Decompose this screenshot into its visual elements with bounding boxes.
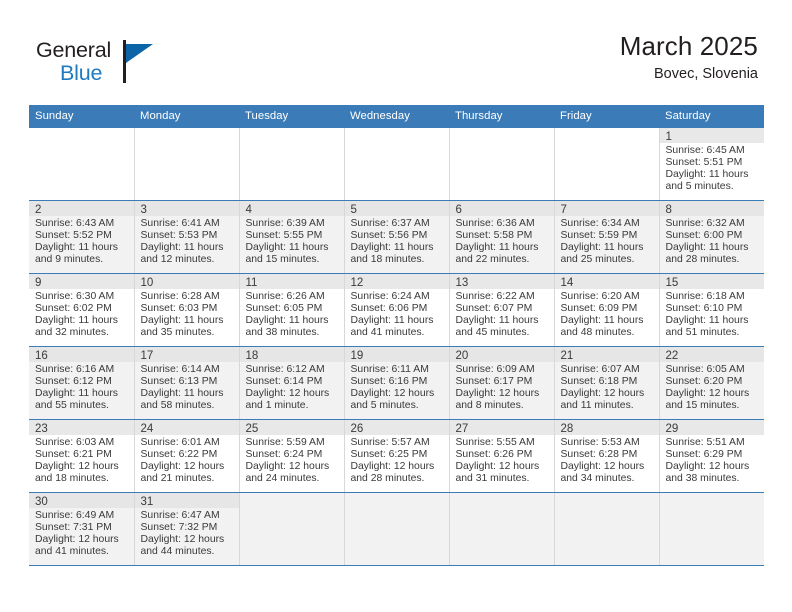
weekday-header-thursday: Thursday xyxy=(449,105,554,128)
daylight-duration-line1: Daylight: 12 hours xyxy=(561,461,655,473)
sunrise-time: Sunrise: 6:34 AM xyxy=(561,218,655,230)
day-sun-details: Sunrise: 6:12 AMSunset: 6:14 PMDaylight:… xyxy=(240,362,344,412)
sunset-time: Sunset: 7:32 PM xyxy=(141,522,235,534)
day-number: 7 xyxy=(555,201,659,216)
sunrise-time: Sunrise: 6:22 AM xyxy=(456,291,550,303)
weekday-header-tuesday: Tuesday xyxy=(239,105,344,128)
day-sun-details: Sunrise: 6:47 AMSunset: 7:32 PMDaylight:… xyxy=(135,508,239,558)
day-sun-details: Sunrise: 6:28 AMSunset: 6:03 PMDaylight:… xyxy=(135,289,239,339)
daylight-duration-line1: Daylight: 12 hours xyxy=(666,461,761,473)
sunrise-time: Sunrise: 6:28 AM xyxy=(141,291,235,303)
daylight-duration-line1: Daylight: 12 hours xyxy=(351,388,445,400)
daylight-duration-line2: and 11 minutes. xyxy=(561,400,655,412)
daylight-duration-line2: and 41 minutes. xyxy=(351,327,445,339)
calendar-day-cell[interactable]: 2Sunrise: 6:43 AMSunset: 5:52 PMDaylight… xyxy=(29,201,134,274)
day-cell-content xyxy=(345,128,449,200)
daylight-duration-line2: and 44 minutes. xyxy=(141,546,235,558)
daylight-duration-line1: Daylight: 12 hours xyxy=(456,388,550,400)
daylight-duration-line1: Daylight: 11 hours xyxy=(35,388,130,400)
day-cell-content: 18Sunrise: 6:12 AMSunset: 6:14 PMDayligh… xyxy=(240,347,344,419)
calendar-day-cell[interactable]: 4Sunrise: 6:39 AMSunset: 5:55 PMDaylight… xyxy=(239,201,344,274)
day-number: 12 xyxy=(345,274,449,289)
day-sun-details: Sunrise: 6:05 AMSunset: 6:20 PMDaylight:… xyxy=(660,362,765,412)
sunrise-time: Sunrise: 6:11 AM xyxy=(351,364,445,376)
daylight-duration-line1: Daylight: 12 hours xyxy=(246,461,340,473)
calendar-empty-cell xyxy=(134,128,239,201)
day-number xyxy=(450,493,554,508)
day-number: 31 xyxy=(135,493,239,508)
daylight-duration-line1: Daylight: 12 hours xyxy=(561,388,655,400)
day-number: 30 xyxy=(29,493,134,508)
day-number xyxy=(555,128,659,143)
sunset-time: Sunset: 5:53 PM xyxy=(141,230,235,242)
daylight-duration-line2: and 15 minutes. xyxy=(246,254,340,266)
day-cell-content: 2Sunrise: 6:43 AMSunset: 5:52 PMDaylight… xyxy=(29,201,134,273)
weekday-header-sunday: Sunday xyxy=(29,105,134,128)
day-cell-content: 20Sunrise: 6:09 AMSunset: 6:17 PMDayligh… xyxy=(450,347,554,419)
sunset-time: Sunset: 6:02 PM xyxy=(35,303,130,315)
sunrise-time: Sunrise: 6:45 AM xyxy=(666,145,761,157)
logo-text-general: General xyxy=(36,38,111,63)
sunset-time: Sunset: 6:26 PM xyxy=(456,449,550,461)
sunset-time: Sunset: 5:52 PM xyxy=(35,230,130,242)
daylight-duration-line2: and 35 minutes. xyxy=(141,327,235,339)
day-number: 2 xyxy=(29,201,134,216)
daylight-duration-line2: and 32 minutes. xyxy=(35,327,130,339)
sunset-time: Sunset: 6:10 PM xyxy=(666,303,761,315)
daylight-duration-line1: Daylight: 12 hours xyxy=(141,461,235,473)
day-number: 8 xyxy=(660,201,765,216)
day-number: 29 xyxy=(660,420,765,435)
day-sun-details: Sunrise: 6:39 AMSunset: 5:55 PMDaylight:… xyxy=(240,216,344,266)
sunrise-time: Sunrise: 6:32 AM xyxy=(666,218,761,230)
sunrise-time: Sunrise: 5:55 AM xyxy=(456,437,550,449)
day-sun-details: Sunrise: 6:01 AMSunset: 6:22 PMDaylight:… xyxy=(135,435,239,485)
day-sun-details: Sunrise: 5:51 AMSunset: 6:29 PMDaylight:… xyxy=(660,435,765,485)
calendar-day-cell[interactable]: 23Sunrise: 6:03 AMSunset: 6:21 PMDayligh… xyxy=(29,420,134,493)
sunset-time: Sunset: 6:06 PM xyxy=(351,303,445,315)
calendar-day-cell[interactable]: 30Sunrise: 6:49 AMSunset: 7:31 PMDayligh… xyxy=(29,493,134,566)
calendar-day-cell[interactable]: 31Sunrise: 6:47 AMSunset: 7:32 PMDayligh… xyxy=(134,493,239,566)
sunrise-time: Sunrise: 6:36 AM xyxy=(456,218,550,230)
daylight-duration-line2: and 24 minutes. xyxy=(246,473,340,485)
sunset-time: Sunset: 6:13 PM xyxy=(141,376,235,388)
daylight-duration-line2: and 45 minutes. xyxy=(456,327,550,339)
sunrise-time: Sunrise: 6:20 AM xyxy=(561,291,655,303)
calendar-week-row: 1Sunrise: 6:45 AMSunset: 5:51 PMDaylight… xyxy=(29,128,764,201)
daylight-duration-line1: Daylight: 11 hours xyxy=(456,315,550,327)
sunrise-time: Sunrise: 6:14 AM xyxy=(141,364,235,376)
day-number xyxy=(450,128,554,143)
calendar-body: 1Sunrise: 6:45 AMSunset: 5:51 PMDaylight… xyxy=(29,128,764,566)
day-number: 24 xyxy=(135,420,239,435)
day-number: 18 xyxy=(240,347,344,362)
calendar-day-cell[interactable]: 5Sunrise: 6:37 AMSunset: 5:56 PMDaylight… xyxy=(344,201,449,274)
day-cell-content: 3Sunrise: 6:41 AMSunset: 5:53 PMDaylight… xyxy=(135,201,239,273)
daylight-duration-line2: and 48 minutes. xyxy=(561,327,655,339)
sunset-time: Sunset: 6:29 PM xyxy=(666,449,761,461)
daylight-duration-line1: Daylight: 11 hours xyxy=(246,315,340,327)
sunrise-time: Sunrise: 6:12 AM xyxy=(246,364,340,376)
day-cell-content: 23Sunrise: 6:03 AMSunset: 6:21 PMDayligh… xyxy=(29,420,134,492)
day-number: 19 xyxy=(345,347,449,362)
day-sun-details: Sunrise: 5:53 AMSunset: 6:28 PMDaylight:… xyxy=(555,435,659,485)
daylight-duration-line2: and 38 minutes. xyxy=(246,327,340,339)
logo-text-blue: Blue xyxy=(60,61,102,86)
day-cell-content xyxy=(240,128,344,200)
calendar-empty-cell xyxy=(449,493,554,566)
calendar-day-cell[interactable]: 20Sunrise: 6:09 AMSunset: 6:17 PMDayligh… xyxy=(449,347,554,420)
calendar-day-cell[interactable]: 16Sunrise: 6:16 AMSunset: 6:12 PMDayligh… xyxy=(29,347,134,420)
sunrise-time: Sunrise: 6:01 AM xyxy=(141,437,235,449)
sunrise-time: Sunrise: 5:53 AM xyxy=(561,437,655,449)
sunset-time: Sunset: 5:55 PM xyxy=(246,230,340,242)
day-sun-details: Sunrise: 6:09 AMSunset: 6:17 PMDaylight:… xyxy=(450,362,554,412)
title-block: March 2025 Bovec, Slovenia xyxy=(620,33,758,83)
sunset-time: Sunset: 7:31 PM xyxy=(35,522,130,534)
daylight-duration-line1: Daylight: 12 hours xyxy=(351,461,445,473)
daylight-duration-line1: Daylight: 11 hours xyxy=(561,242,655,254)
calendar-day-cell[interactable]: 3Sunrise: 6:41 AMSunset: 5:53 PMDaylight… xyxy=(134,201,239,274)
day-number: 15 xyxy=(660,274,765,289)
calendar-week-row: 2Sunrise: 6:43 AMSunset: 5:52 PMDaylight… xyxy=(29,201,764,274)
daylight-duration-line2: and 28 minutes. xyxy=(666,254,761,266)
daylight-duration-line2: and 31 minutes. xyxy=(456,473,550,485)
sunset-time: Sunset: 6:28 PM xyxy=(561,449,655,461)
calendar-day-cell[interactable]: 24Sunrise: 6:01 AMSunset: 6:22 PMDayligh… xyxy=(134,420,239,493)
sunrise-time: Sunrise: 5:51 AM xyxy=(666,437,761,449)
daylight-duration-line2: and 58 minutes. xyxy=(141,400,235,412)
day-cell-content xyxy=(660,493,765,565)
sunrise-time: Sunrise: 6:43 AM xyxy=(35,218,130,230)
page-title: March 2025 xyxy=(620,33,758,60)
daylight-duration-line2: and 51 minutes. xyxy=(666,327,761,339)
sunrise-time: Sunrise: 6:41 AM xyxy=(141,218,235,230)
daylight-duration-line1: Daylight: 12 hours xyxy=(666,388,761,400)
calendar-week-row: 9Sunrise: 6:30 AMSunset: 6:02 PMDaylight… xyxy=(29,274,764,347)
sunset-time: Sunset: 6:18 PM xyxy=(561,376,655,388)
calendar-empty-cell xyxy=(29,128,134,201)
daylight-duration-line2: and 5 minutes. xyxy=(666,181,761,193)
day-cell-content: 26Sunrise: 5:57 AMSunset: 6:25 PMDayligh… xyxy=(345,420,449,492)
day-number xyxy=(555,493,659,508)
day-cell-content: 28Sunrise: 5:53 AMSunset: 6:28 PMDayligh… xyxy=(555,420,659,492)
calendar-week-row: 16Sunrise: 6:16 AMSunset: 6:12 PMDayligh… xyxy=(29,347,764,420)
daylight-duration-line2: and 34 minutes. xyxy=(561,473,655,485)
day-number xyxy=(29,128,134,143)
weekday-header-saturday: Saturday xyxy=(659,105,764,128)
calendar-week-row: 30Sunrise: 6:49 AMSunset: 7:31 PMDayligh… xyxy=(29,493,764,566)
daylight-duration-line1: Daylight: 11 hours xyxy=(666,169,761,181)
day-sun-details: Sunrise: 6:11 AMSunset: 6:16 PMDaylight:… xyxy=(345,362,449,412)
page-subtitle: Bovec, Slovenia xyxy=(620,67,758,83)
sunset-time: Sunset: 6:12 PM xyxy=(35,376,130,388)
day-number xyxy=(345,128,449,143)
day-sun-details: Sunrise: 6:45 AMSunset: 5:51 PMDaylight:… xyxy=(660,143,765,193)
day-number: 25 xyxy=(240,420,344,435)
daylight-duration-line1: Daylight: 11 hours xyxy=(351,242,445,254)
day-number: 14 xyxy=(555,274,659,289)
day-number: 10 xyxy=(135,274,239,289)
sunrise-time: Sunrise: 6:16 AM xyxy=(35,364,130,376)
weekday-header-wednesday: Wednesday xyxy=(344,105,449,128)
day-sun-details: Sunrise: 6:36 AMSunset: 5:58 PMDaylight:… xyxy=(450,216,554,266)
day-sun-details: Sunrise: 6:24 AMSunset: 6:06 PMDaylight:… xyxy=(345,289,449,339)
day-number: 22 xyxy=(660,347,765,362)
day-cell-content: 9Sunrise: 6:30 AMSunset: 6:02 PMDaylight… xyxy=(29,274,134,346)
calendar-empty-cell xyxy=(554,493,659,566)
calendar-day-cell[interactable]: 27Sunrise: 5:55 AMSunset: 6:26 PMDayligh… xyxy=(449,420,554,493)
daylight-duration-line1: Daylight: 12 hours xyxy=(35,461,130,473)
calendar-page: General Blue March 2025 Bovec, Slovenia … xyxy=(0,0,792,612)
day-number: 17 xyxy=(135,347,239,362)
day-number: 28 xyxy=(555,420,659,435)
day-sun-details: Sunrise: 6:16 AMSunset: 6:12 PMDaylight:… xyxy=(29,362,134,412)
sunrise-time: Sunrise: 6:07 AM xyxy=(561,364,655,376)
sunset-time: Sunset: 6:20 PM xyxy=(666,376,761,388)
day-cell-content: 19Sunrise: 6:11 AMSunset: 6:16 PMDayligh… xyxy=(345,347,449,419)
sunrise-time: Sunrise: 6:47 AM xyxy=(141,510,235,522)
day-sun-details: Sunrise: 6:03 AMSunset: 6:21 PMDaylight:… xyxy=(29,435,134,485)
day-number: 13 xyxy=(450,274,554,289)
day-cell-content: 17Sunrise: 6:14 AMSunset: 6:13 PMDayligh… xyxy=(135,347,239,419)
daylight-duration-line2: and 25 minutes. xyxy=(561,254,655,266)
day-cell-content: 16Sunrise: 6:16 AMSunset: 6:12 PMDayligh… xyxy=(29,347,134,419)
daylight-duration-line1: Daylight: 11 hours xyxy=(141,315,235,327)
day-cell-content: 27Sunrise: 5:55 AMSunset: 6:26 PMDayligh… xyxy=(450,420,554,492)
sunset-time: Sunset: 6:24 PM xyxy=(246,449,340,461)
day-number: 4 xyxy=(240,201,344,216)
sunrise-time: Sunrise: 6:05 AM xyxy=(666,364,761,376)
day-number xyxy=(345,493,449,508)
daylight-duration-line1: Daylight: 12 hours xyxy=(246,388,340,400)
calendar-day-cell[interactable]: 29Sunrise: 5:51 AMSunset: 6:29 PMDayligh… xyxy=(659,420,764,493)
day-cell-content: 30Sunrise: 6:49 AMSunset: 7:31 PMDayligh… xyxy=(29,493,134,565)
daylight-duration-line2: and 8 minutes. xyxy=(456,400,550,412)
calendar-empty-cell xyxy=(449,128,554,201)
calendar-day-cell[interactable]: 28Sunrise: 5:53 AMSunset: 6:28 PMDayligh… xyxy=(554,420,659,493)
day-sun-details: Sunrise: 6:14 AMSunset: 6:13 PMDaylight:… xyxy=(135,362,239,412)
daylight-duration-line2: and 38 minutes. xyxy=(666,473,761,485)
calendar-day-cell[interactable]: 21Sunrise: 6:07 AMSunset: 6:18 PMDayligh… xyxy=(554,347,659,420)
daylight-duration-line2: and 12 minutes. xyxy=(141,254,235,266)
weekday-header-row: Sunday Monday Tuesday Wednesday Thursday… xyxy=(29,105,764,128)
day-cell-content: 22Sunrise: 6:05 AMSunset: 6:20 PMDayligh… xyxy=(660,347,765,419)
calendar-day-cell[interactable]: 7Sunrise: 6:34 AMSunset: 5:59 PMDaylight… xyxy=(554,201,659,274)
day-cell-content: 12Sunrise: 6:24 AMSunset: 6:06 PMDayligh… xyxy=(345,274,449,346)
sunset-time: Sunset: 6:09 PM xyxy=(561,303,655,315)
daylight-duration-line1: Daylight: 11 hours xyxy=(246,242,340,254)
day-cell-content: 8Sunrise: 6:32 AMSunset: 6:00 PMDaylight… xyxy=(660,201,765,273)
calendar-day-cell[interactable]: 8Sunrise: 6:32 AMSunset: 6:00 PMDaylight… xyxy=(659,201,764,274)
day-cell-content: 25Sunrise: 5:59 AMSunset: 6:24 PMDayligh… xyxy=(240,420,344,492)
daylight-duration-line1: Daylight: 12 hours xyxy=(456,461,550,473)
flag-triangle-icon xyxy=(123,40,153,83)
day-number: 21 xyxy=(555,347,659,362)
day-cell-content: 15Sunrise: 6:18 AMSunset: 6:10 PMDayligh… xyxy=(660,274,765,346)
day-sun-details: Sunrise: 6:41 AMSunset: 5:53 PMDaylight:… xyxy=(135,216,239,266)
day-sun-details: Sunrise: 5:59 AMSunset: 6:24 PMDaylight:… xyxy=(240,435,344,485)
sunrise-time: Sunrise: 6:24 AM xyxy=(351,291,445,303)
sunset-time: Sunset: 6:25 PM xyxy=(351,449,445,461)
daylight-duration-line1: Daylight: 11 hours xyxy=(141,242,235,254)
day-number xyxy=(660,493,765,508)
calendar-day-cell[interactable]: 12Sunrise: 6:24 AMSunset: 6:06 PMDayligh… xyxy=(344,274,449,347)
sunset-time: Sunset: 6:21 PM xyxy=(35,449,130,461)
day-number: 6 xyxy=(450,201,554,216)
daylight-duration-line1: Daylight: 11 hours xyxy=(666,242,761,254)
day-sun-details: Sunrise: 6:22 AMSunset: 6:07 PMDaylight:… xyxy=(450,289,554,339)
calendar-empty-cell xyxy=(344,493,449,566)
calendar-day-cell[interactable]: 15Sunrise: 6:18 AMSunset: 6:10 PMDayligh… xyxy=(659,274,764,347)
calendar-day-cell[interactable]: 25Sunrise: 5:59 AMSunset: 6:24 PMDayligh… xyxy=(239,420,344,493)
day-number xyxy=(135,128,239,143)
day-number: 5 xyxy=(345,201,449,216)
day-number: 20 xyxy=(450,347,554,362)
calendar-day-cell[interactable]: 22Sunrise: 6:05 AMSunset: 6:20 PMDayligh… xyxy=(659,347,764,420)
daylight-duration-line2: and 55 minutes. xyxy=(35,400,130,412)
day-cell-content: 7Sunrise: 6:34 AMSunset: 5:59 PMDaylight… xyxy=(555,201,659,273)
day-cell-content: 14Sunrise: 6:20 AMSunset: 6:09 PMDayligh… xyxy=(555,274,659,346)
daylight-duration-line2: and 28 minutes. xyxy=(351,473,445,485)
day-cell-content: 24Sunrise: 6:01 AMSunset: 6:22 PMDayligh… xyxy=(135,420,239,492)
day-cell-content: 5Sunrise: 6:37 AMSunset: 5:56 PMDaylight… xyxy=(345,201,449,273)
sunrise-time: Sunrise: 6:09 AM xyxy=(456,364,550,376)
daylight-duration-line2: and 21 minutes. xyxy=(141,473,235,485)
day-number xyxy=(240,493,344,508)
day-sun-details: Sunrise: 5:55 AMSunset: 6:26 PMDaylight:… xyxy=(450,435,554,485)
daylight-duration-line1: Daylight: 11 hours xyxy=(35,315,130,327)
calendar-day-cell[interactable]: 10Sunrise: 6:28 AMSunset: 6:03 PMDayligh… xyxy=(134,274,239,347)
daylight-duration-line1: Daylight: 11 hours xyxy=(351,315,445,327)
daylight-duration-line1: Daylight: 12 hours xyxy=(141,534,235,546)
sunset-time: Sunset: 5:56 PM xyxy=(351,230,445,242)
day-cell-content: 29Sunrise: 5:51 AMSunset: 6:29 PMDayligh… xyxy=(660,420,765,492)
daylight-duration-line1: Daylight: 11 hours xyxy=(141,388,235,400)
day-sun-details: Sunrise: 6:37 AMSunset: 5:56 PMDaylight:… xyxy=(345,216,449,266)
sunrise-time: Sunrise: 6:03 AM xyxy=(35,437,130,449)
daylight-duration-line1: Daylight: 11 hours xyxy=(666,315,761,327)
day-cell-content: 13Sunrise: 6:22 AMSunset: 6:07 PMDayligh… xyxy=(450,274,554,346)
sunset-time: Sunset: 5:51 PM xyxy=(666,157,761,169)
daylight-duration-line1: Daylight: 11 hours xyxy=(456,242,550,254)
day-cell-content: 21Sunrise: 6:07 AMSunset: 6:18 PMDayligh… xyxy=(555,347,659,419)
day-number: 23 xyxy=(29,420,134,435)
calendar-day-cell[interactable]: 14Sunrise: 6:20 AMSunset: 6:09 PMDayligh… xyxy=(554,274,659,347)
weekday-header-monday: Monday xyxy=(134,105,239,128)
day-cell-content xyxy=(555,493,659,565)
day-cell-content xyxy=(29,128,134,200)
day-number: 16 xyxy=(29,347,134,362)
day-number: 9 xyxy=(29,274,134,289)
calendar-day-cell[interactable]: 6Sunrise: 6:36 AMSunset: 5:58 PMDaylight… xyxy=(449,201,554,274)
day-cell-content: 11Sunrise: 6:26 AMSunset: 6:05 PMDayligh… xyxy=(240,274,344,346)
calendar-week-row: 23Sunrise: 6:03 AMSunset: 6:21 PMDayligh… xyxy=(29,420,764,493)
sunset-time: Sunset: 6:05 PM xyxy=(246,303,340,315)
day-cell-content xyxy=(135,128,239,200)
day-cell-content xyxy=(240,493,344,565)
sunrise-time: Sunrise: 6:37 AM xyxy=(351,218,445,230)
day-cell-content: 10Sunrise: 6:28 AMSunset: 6:03 PMDayligh… xyxy=(135,274,239,346)
daylight-duration-line2: and 18 minutes. xyxy=(351,254,445,266)
calendar-day-cell[interactable]: 9Sunrise: 6:30 AMSunset: 6:02 PMDaylight… xyxy=(29,274,134,347)
sunrise-time: Sunrise: 6:39 AM xyxy=(246,218,340,230)
calendar-empty-cell xyxy=(239,128,344,201)
calendar-day-cell[interactable]: 1Sunrise: 6:45 AMSunset: 5:51 PMDaylight… xyxy=(659,128,764,201)
day-cell-content xyxy=(345,493,449,565)
daylight-duration-line2: and 18 minutes. xyxy=(35,473,130,485)
page-header: General Blue March 2025 Bovec, Slovenia xyxy=(0,0,792,105)
general-blue-logo[interactable]: General Blue xyxy=(36,38,186,90)
calendar-empty-cell xyxy=(554,128,659,201)
day-cell-content xyxy=(450,128,554,200)
daylight-duration-line2: and 15 minutes. xyxy=(666,400,761,412)
sunrise-time: Sunrise: 5:59 AM xyxy=(246,437,340,449)
weekday-header-friday: Friday xyxy=(554,105,659,128)
sunrise-time: Sunrise: 6:30 AM xyxy=(35,291,130,303)
calendar-day-cell[interactable]: 11Sunrise: 6:26 AMSunset: 6:05 PMDayligh… xyxy=(239,274,344,347)
sunset-time: Sunset: 5:58 PM xyxy=(456,230,550,242)
calendar-day-cell[interactable]: 13Sunrise: 6:22 AMSunset: 6:07 PMDayligh… xyxy=(449,274,554,347)
sunset-time: Sunset: 6:00 PM xyxy=(666,230,761,242)
day-sun-details: Sunrise: 6:20 AMSunset: 6:09 PMDaylight:… xyxy=(555,289,659,339)
calendar-empty-cell xyxy=(239,493,344,566)
day-sun-details: Sunrise: 6:30 AMSunset: 6:02 PMDaylight:… xyxy=(29,289,134,339)
day-sun-details: Sunrise: 6:32 AMSunset: 6:00 PMDaylight:… xyxy=(660,216,765,266)
daylight-duration-line2: and 9 minutes. xyxy=(35,254,130,266)
sunset-time: Sunset: 6:14 PM xyxy=(246,376,340,388)
day-sun-details: Sunrise: 6:49 AMSunset: 7:31 PMDaylight:… xyxy=(29,508,134,558)
calendar-day-cell[interactable]: 18Sunrise: 6:12 AMSunset: 6:14 PMDayligh… xyxy=(239,347,344,420)
day-cell-content xyxy=(555,128,659,200)
sunset-time: Sunset: 6:16 PM xyxy=(351,376,445,388)
calendar-empty-cell xyxy=(659,493,764,566)
day-sun-details: Sunrise: 6:34 AMSunset: 5:59 PMDaylight:… xyxy=(555,216,659,266)
day-sun-details: Sunrise: 6:18 AMSunset: 6:10 PMDaylight:… xyxy=(660,289,765,339)
daylight-duration-line2: and 1 minute. xyxy=(246,400,340,412)
day-cell-content: 4Sunrise: 6:39 AMSunset: 5:55 PMDaylight… xyxy=(240,201,344,273)
day-number: 3 xyxy=(135,201,239,216)
daylight-duration-line1: Daylight: 12 hours xyxy=(35,534,130,546)
day-number: 27 xyxy=(450,420,554,435)
sunset-time: Sunset: 5:59 PM xyxy=(561,230,655,242)
daylight-duration-line2: and 22 minutes. xyxy=(456,254,550,266)
calendar-day-cell[interactable]: 17Sunrise: 6:14 AMSunset: 6:13 PMDayligh… xyxy=(134,347,239,420)
day-sun-details: Sunrise: 6:43 AMSunset: 5:52 PMDaylight:… xyxy=(29,216,134,266)
day-sun-details: Sunrise: 6:26 AMSunset: 6:05 PMDaylight:… xyxy=(240,289,344,339)
daylight-duration-line2: and 41 minutes. xyxy=(35,546,130,558)
day-cell-content: 1Sunrise: 6:45 AMSunset: 5:51 PMDaylight… xyxy=(660,128,765,200)
day-sun-details: Sunrise: 6:07 AMSunset: 6:18 PMDaylight:… xyxy=(555,362,659,412)
day-cell-content: 31Sunrise: 6:47 AMSunset: 7:32 PMDayligh… xyxy=(135,493,239,565)
calendar-day-cell[interactable]: 26Sunrise: 5:57 AMSunset: 6:25 PMDayligh… xyxy=(344,420,449,493)
sunset-time: Sunset: 6:17 PM xyxy=(456,376,550,388)
sunrise-time: Sunrise: 5:57 AM xyxy=(351,437,445,449)
day-number: 11 xyxy=(240,274,344,289)
day-number: 26 xyxy=(345,420,449,435)
sunrise-time: Sunrise: 6:18 AM xyxy=(666,291,761,303)
calendar-day-cell[interactable]: 19Sunrise: 6:11 AMSunset: 6:16 PMDayligh… xyxy=(344,347,449,420)
sunset-time: Sunset: 6:22 PM xyxy=(141,449,235,461)
flag-banner xyxy=(126,44,153,63)
daylight-duration-line1: Daylight: 11 hours xyxy=(561,315,655,327)
sunset-time: Sunset: 6:03 PM xyxy=(141,303,235,315)
day-cell-content: 6Sunrise: 6:36 AMSunset: 5:58 PMDaylight… xyxy=(450,201,554,273)
sunrise-sunset-calendar: Sunday Monday Tuesday Wednesday Thursday… xyxy=(29,105,764,566)
sunrise-time: Sunrise: 6:26 AM xyxy=(246,291,340,303)
calendar-empty-cell xyxy=(344,128,449,201)
day-cell-content xyxy=(450,493,554,565)
